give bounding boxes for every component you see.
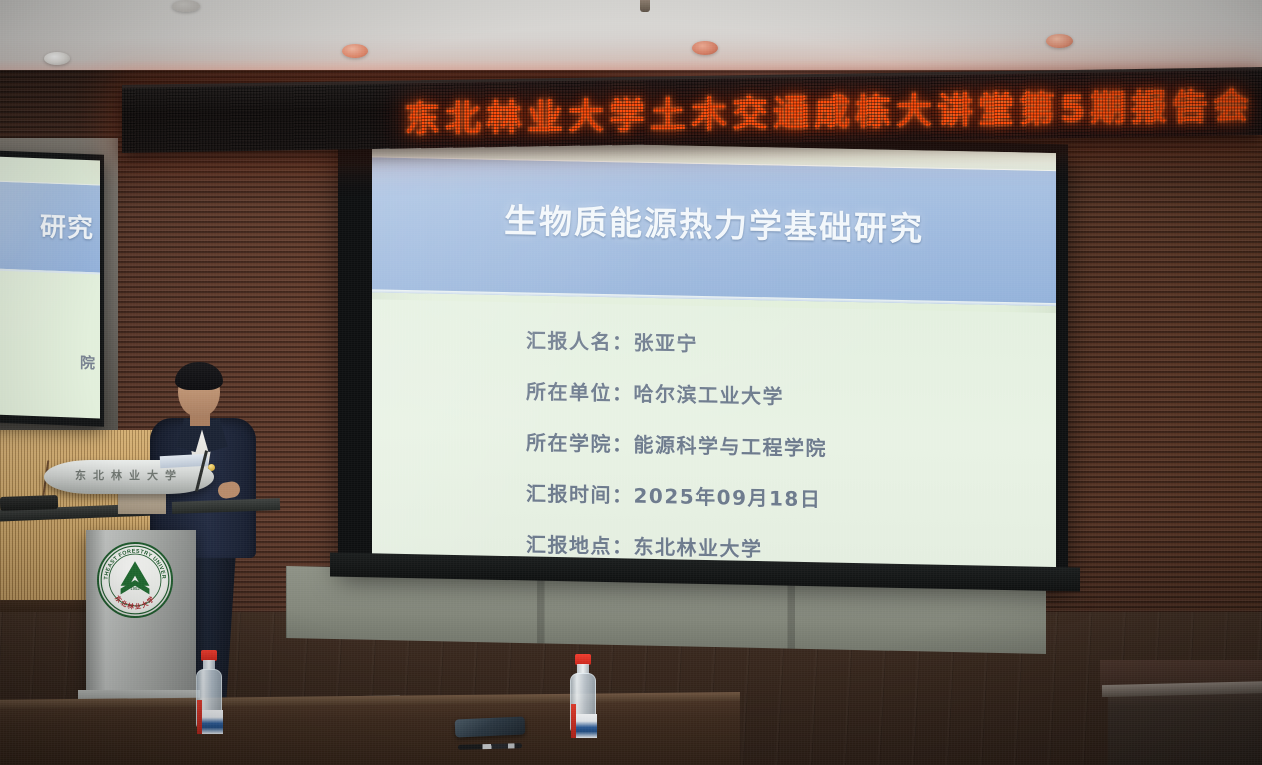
recessed-downlight (44, 52, 70, 65)
side-projection-screen: 研究 院 (0, 149, 104, 426)
speaker-hair (175, 362, 223, 390)
side-slide: 研究 院 (0, 156, 100, 419)
right-desk (1108, 686, 1262, 765)
emblem-graphic: NORTHEAST FORESTRY UNIVERSITY 1952 东北林业大… (99, 544, 171, 616)
side-slide-title: 研究 (0, 204, 100, 246)
slide-line-school: 所在学院：能源科学与工程学院 (526, 426, 1056, 466)
audio-equipment (0, 495, 58, 511)
slide-line-presenter: 汇报人名：张亚宁 (526, 324, 1056, 364)
svg-text:东北林业大学: 东北林业大学 (113, 593, 157, 611)
slide-line-date: 汇报时间：2025年09月18日 (526, 477, 1056, 517)
led-banner-text: 东北林业大学土木交通成栋大讲堂第5期报告会 (404, 77, 1262, 142)
water-bottle (570, 654, 596, 734)
bottle-body (570, 673, 596, 733)
lecture-hall-scene: 研究 院 东北林业大学土木交通成栋大讲堂第5期报告会 生物质能源热力学基础研究 … (0, 0, 1262, 765)
fire-sprinkler-icon (640, 0, 650, 12)
water-bottle (196, 650, 222, 730)
recessed-downlight (342, 44, 368, 58)
svg-text:1952: 1952 (130, 586, 140, 591)
recessed-downlight (1046, 34, 1073, 48)
podium-panel-card (118, 492, 166, 514)
recessed-downlight (172, 0, 200, 12)
slide-body: 汇报人名：张亚宁 所在单位：哈尔滨工业大学 所在学院：能源科学与工程学院 汇报时… (372, 299, 1056, 571)
smartphone (455, 716, 526, 737)
bottle-label (197, 710, 223, 734)
podium-engraved-text: 东北林业大学 (75, 467, 183, 483)
bottle-label (571, 714, 597, 738)
presentation-slide: 生物质能源热力学基础研究 汇报人名：张亚宁 所在单位：哈尔滨工业大学 所在学院：… (372, 139, 1056, 571)
university-emblem: NORTHEAST FORESTRY UNIVERSITY 1952 东北林业大… (97, 542, 173, 618)
side-slide-line: 院 (0, 348, 100, 374)
projection-screen: 生物质能源热力学基础研究 汇报人名：张亚宁 所在单位：哈尔滨工业大学 所在学院：… (338, 130, 1068, 585)
bottle-body (196, 669, 222, 729)
slide-line-institution: 所在单位：哈尔滨工业大学 (526, 375, 1056, 415)
recessed-downlight (692, 41, 718, 55)
